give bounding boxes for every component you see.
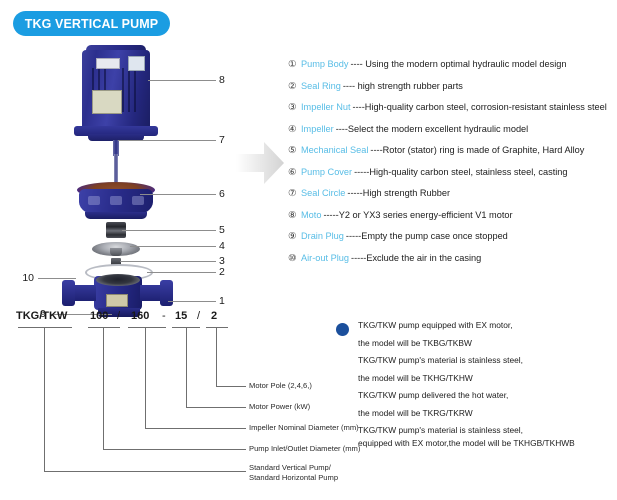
- leader-line-7: [118, 140, 216, 141]
- note-line: the model will be TKRG/TKRW: [358, 408, 617, 419]
- legend-part-name: Seal Circle: [301, 187, 345, 199]
- parts-legend-list: ① Pump Body ---- Using the modern optima…: [288, 58, 617, 273]
- code-drop-series: [44, 327, 45, 471]
- code-separator: -: [162, 310, 166, 322]
- code-label-series-2: Standard Horizontal Pump: [249, 473, 338, 484]
- callout-number-8: 8: [219, 74, 237, 86]
- legend-part-name: Air-out Plug: [301, 252, 349, 264]
- legend-item: ① Pump Body ---- Using the modern optima…: [288, 58, 617, 70]
- legend-description: ----Rotor (stator) ring is made of Graph…: [370, 144, 584, 156]
- leader-line-1: [168, 301, 216, 302]
- page-title-banner: TKG VERTICAL PUMP: [13, 11, 170, 36]
- motor-nameplate-upper: [96, 58, 120, 69]
- legend-part-name: Moto: [301, 209, 321, 221]
- model-variant-notes: TKG/TKW pump equipped with EX motor, the…: [336, 320, 617, 455]
- legend-number: ②: [288, 80, 301, 92]
- exploded-pump-diagram: 8 7 6 5 4 3 2 1 10 9: [0, 42, 270, 307]
- code-label-power: Motor Power (kW): [249, 402, 310, 413]
- code-run-power: [186, 407, 246, 408]
- note-line: TKG/TKW pump equipped with EX motor,: [358, 320, 617, 331]
- code-underline-pole: [206, 327, 228, 328]
- legend-item: ⑧ Moto -----Y2 or YX3 series energy-effi…: [288, 209, 617, 221]
- legend-description: ----Select the modern excellent hydrauli…: [336, 123, 529, 135]
- impeller-hub: [110, 248, 122, 256]
- legend-part-name: Impeller: [301, 123, 334, 135]
- callout-number-5: 5: [219, 224, 237, 236]
- code-separator: /: [197, 310, 200, 322]
- legend-description: ---- high strength rubber parts: [343, 80, 463, 92]
- pump-inlet-flange: [62, 280, 75, 306]
- legend-part-name: Drain Plug: [301, 230, 344, 242]
- legend-number: ⑩: [288, 252, 301, 264]
- pump-body-bore: [96, 274, 140, 286]
- legend-description: -----Y2 or YX3 series energy-efficient V…: [323, 209, 512, 221]
- legend-description: -----High strength Rubber: [347, 187, 450, 199]
- legend-number: ⑥: [288, 166, 301, 178]
- legend-item: ② Seal Ring ---- high strength rubber pa…: [288, 80, 617, 92]
- motor-terminal-box: [128, 56, 145, 71]
- code-run-pole: [216, 386, 246, 387]
- legend-description: -----High-quality carbon steel, stainles…: [354, 166, 567, 178]
- model-code-breakdown: TKG/TKW 100 / 160 - 15 / 2 Motor Pole (2…: [0, 310, 330, 500]
- legend-description: -----Empty the pump case once stopped: [346, 230, 508, 242]
- legend-number: ③: [288, 101, 301, 113]
- motor-nameplate-lower: [92, 90, 122, 114]
- note-line: TKG/TKW pump delivered the hot water,: [358, 390, 617, 401]
- legend-part-name: Pump Body: [301, 58, 349, 70]
- code-token-inlet: 100: [90, 310, 108, 322]
- code-run-impeller: [145, 428, 246, 429]
- code-run-inlet: [103, 449, 246, 450]
- pump-outlet-pipe: [140, 285, 162, 301]
- page-title: TKG VERTICAL PUMP: [25, 17, 158, 31]
- note-line: the model will be TKHG/TKHW: [358, 373, 617, 384]
- code-underline-series: [18, 327, 72, 328]
- code-drop-pole: [216, 327, 217, 386]
- legend-item: ④ Impeller ----Select the modern excelle…: [288, 123, 617, 135]
- legend-description: ---- Using the modern optimal hydraulic …: [351, 58, 567, 70]
- legend-number: ⑨: [288, 230, 301, 242]
- legend-part-name: Mechanical Seal: [301, 144, 368, 156]
- code-token-pole: 2: [211, 310, 217, 322]
- legend-item: ⑦ Seal Circle -----High strength Rubber: [288, 187, 617, 199]
- note-line: TKG/TKW pump's material is stainless ste…: [358, 425, 617, 436]
- legend-part-name: Pump Cover: [301, 166, 352, 178]
- leader-line-2: [147, 272, 216, 273]
- leader-line-6: [140, 194, 216, 195]
- pump-body-nameplate: [106, 294, 128, 307]
- code-separator: /: [117, 310, 120, 322]
- callout-number-2: 2: [219, 266, 237, 278]
- legend-number: ⑤: [288, 144, 301, 156]
- legend-item: ③ Impeller Nut ----High-quality carbon s…: [288, 101, 617, 113]
- note-line: the model will be TKBG/TKBW: [358, 338, 617, 349]
- legend-item: ⑤ Mechanical Seal ----Rotor (stator) rin…: [288, 144, 617, 156]
- legend-part-name: Impeller Nut: [301, 101, 351, 113]
- code-drop-inlet: [103, 327, 104, 449]
- legend-item: ⑥ Pump Cover -----High-quality carbon st…: [288, 166, 617, 178]
- pump-cover-base: [85, 212, 147, 219]
- code-token-impeller: 160: [131, 310, 149, 322]
- legend-item: ⑩ Air-out Plug -----Exclude the air in t…: [288, 252, 617, 264]
- code-drop-power: [186, 327, 187, 407]
- flow-arrow-icon: [234, 140, 286, 186]
- legend-description: -----Exclude the air in the casing: [351, 252, 481, 264]
- legend-description: ----High-quality carbon steel, corrosion…: [353, 101, 607, 113]
- bullet-marker-icon: [336, 323, 349, 336]
- code-drop-impeller: [145, 327, 146, 428]
- leader-line-10: [38, 278, 76, 279]
- callout-number-1: 1: [219, 295, 237, 307]
- leader-line-8: [148, 80, 216, 81]
- code-token-power: 15: [175, 310, 187, 322]
- code-underline-inlet: [88, 327, 120, 328]
- callout-number-10: 10: [16, 272, 34, 284]
- code-underline-impeller: [128, 327, 166, 328]
- code-label-pole: Motor Pole (2,4,6,): [249, 381, 312, 392]
- code-token-series: TKG/TKW: [16, 310, 67, 322]
- callout-number-4: 4: [219, 240, 237, 252]
- legend-part-name: Seal Ring: [301, 80, 341, 92]
- leader-line-4: [130, 246, 216, 247]
- note-line: TKG/TKW pump's material is stainless ste…: [358, 355, 617, 366]
- legend-item: ⑨ Drain Plug -----Empty the pump case on…: [288, 230, 617, 242]
- legend-number: ⑧: [288, 209, 301, 221]
- pump-outlet-flange: [160, 280, 173, 306]
- pump-shaft: [114, 154, 118, 182]
- leader-line-5: [122, 230, 216, 231]
- code-label-series-1: Standard Vertical Pump/: [249, 463, 331, 474]
- code-run-series: [44, 471, 246, 472]
- legend-number: ⑦: [288, 187, 301, 199]
- callout-number-6: 6: [219, 188, 237, 200]
- pump-inlet-pipe: [73, 285, 96, 301]
- note-line: equipped with EX motor,the model will be…: [358, 438, 617, 449]
- leader-line-3: [120, 261, 216, 262]
- legend-number: ④: [288, 123, 301, 135]
- legend-number: ①: [288, 58, 301, 70]
- page-root: TKG VERTICAL PUMP: [0, 0, 617, 500]
